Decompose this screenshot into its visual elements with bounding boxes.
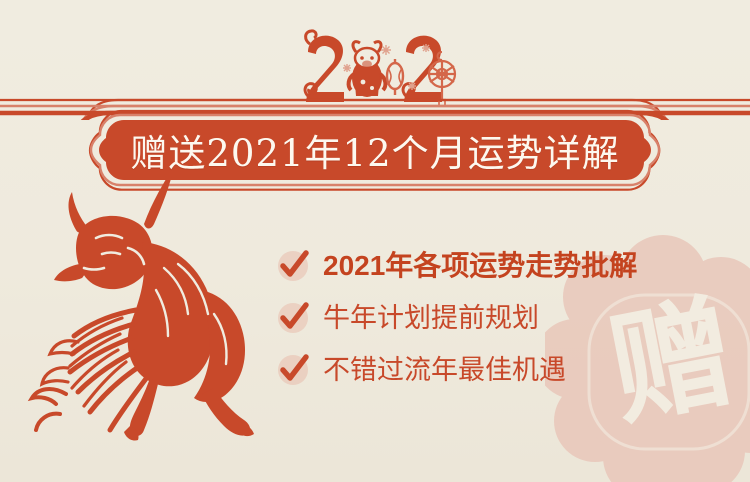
poster-canvas: 赠 xyxy=(0,0,750,482)
list-item-label: 2021年各项运势走势批解 xyxy=(323,252,637,280)
lantern-icon xyxy=(387,59,403,95)
list-item-label: 不错过流年最佳机遇 xyxy=(323,357,566,384)
list-item: 2021年各项运势走势批解 xyxy=(277,240,707,292)
year-digit-1 xyxy=(305,31,344,102)
check-icon xyxy=(277,353,311,387)
benefit-list: 2021年各项运势走势批解 牛年计划提前规划 不错过流年最佳机遇 xyxy=(277,240,707,396)
list-item: 不错过流年最佳机遇 xyxy=(277,344,707,396)
ox-illustration xyxy=(18,172,303,447)
check-icon xyxy=(277,301,311,335)
list-item: 牛年计划提前规划 xyxy=(277,292,707,344)
list-item-label: 牛年计划提前规划 xyxy=(323,305,539,332)
ox-mascot-icon xyxy=(349,42,386,97)
check-icon xyxy=(277,249,311,283)
